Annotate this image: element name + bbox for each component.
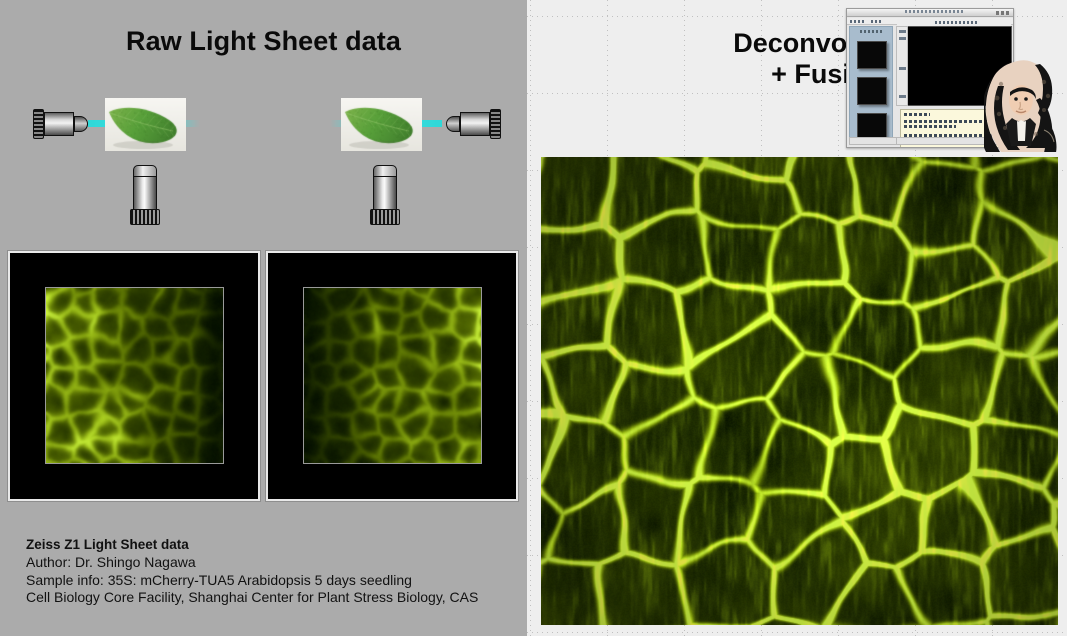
leaf-image xyxy=(341,98,422,151)
caption-block: Zeiss Z1 Light Sheet data Author: Dr. Sh… xyxy=(26,536,521,607)
tool-icon[interactable] xyxy=(899,30,906,33)
objective-body xyxy=(373,176,397,210)
caption-author: Author: Dr. Shingo Nagawa xyxy=(26,554,521,572)
window-titlebar xyxy=(847,9,1013,17)
portrait-illustration xyxy=(984,56,1060,152)
tool-strip[interactable] xyxy=(896,26,908,106)
objective-nose xyxy=(446,116,460,132)
window-controls[interactable] xyxy=(996,11,1010,15)
objective-barrel xyxy=(460,112,490,136)
left-panel-title: Raw Light Sheet data xyxy=(0,26,527,57)
objective-knurl xyxy=(33,109,44,139)
channel-thumbnail[interactable] xyxy=(857,41,887,69)
tool-icon[interactable] xyxy=(899,37,906,40)
slide-canvas: Raw Light Sheet data xyxy=(0,0,1067,636)
grid-line-vertical xyxy=(530,0,531,636)
status-divider xyxy=(896,138,897,144)
tool-icon[interactable] xyxy=(899,67,906,70)
menu-item[interactable] xyxy=(871,20,883,23)
illumination-objective-left-icon xyxy=(33,107,91,141)
objective-body xyxy=(133,176,157,210)
viewport-title-text xyxy=(935,21,977,24)
objective-knurl xyxy=(490,109,501,139)
detection-objective-right-icon xyxy=(370,165,400,225)
raw-view-right xyxy=(266,251,518,501)
log-line xyxy=(904,113,930,116)
specimen-photo-right xyxy=(341,98,422,151)
left-panel: Raw Light Sheet data xyxy=(0,0,527,636)
log-line xyxy=(904,125,956,128)
raw-view-left xyxy=(8,251,260,501)
thumbnail-panel[interactable] xyxy=(849,26,893,138)
raw-image-left xyxy=(45,287,224,464)
panel-label xyxy=(860,30,884,33)
tool-icon[interactable] xyxy=(899,95,906,98)
window-title-text xyxy=(905,10,965,13)
deconvolved-image-canvas xyxy=(541,157,1058,625)
grid-line-horizontal xyxy=(527,632,1067,633)
viewport-header xyxy=(897,19,1011,26)
caption-affiliation: Cell Biology Core Facility, Shanghai Cen… xyxy=(26,589,521,607)
fused-deconvolved-image xyxy=(541,157,1058,625)
caption-heading: Zeiss Z1 Light Sheet data xyxy=(26,536,521,554)
objective-barrel xyxy=(44,112,74,136)
raw-image-right xyxy=(303,287,482,464)
objective-knurl xyxy=(370,209,400,225)
objective-knurl xyxy=(130,209,160,225)
illumination-objective-right-icon xyxy=(443,107,501,141)
scientist-portrait xyxy=(984,56,1060,152)
specimen-photo-left xyxy=(105,98,186,151)
detection-objective-left-icon xyxy=(130,165,160,225)
leaf-image xyxy=(105,98,186,151)
menu-item[interactable] xyxy=(850,20,866,23)
caption-sample-info: Sample info: 35S: mCherry-TUA5 Arabidops… xyxy=(26,572,521,590)
objective-nose xyxy=(74,116,88,132)
channel-thumbnail[interactable] xyxy=(857,77,887,105)
